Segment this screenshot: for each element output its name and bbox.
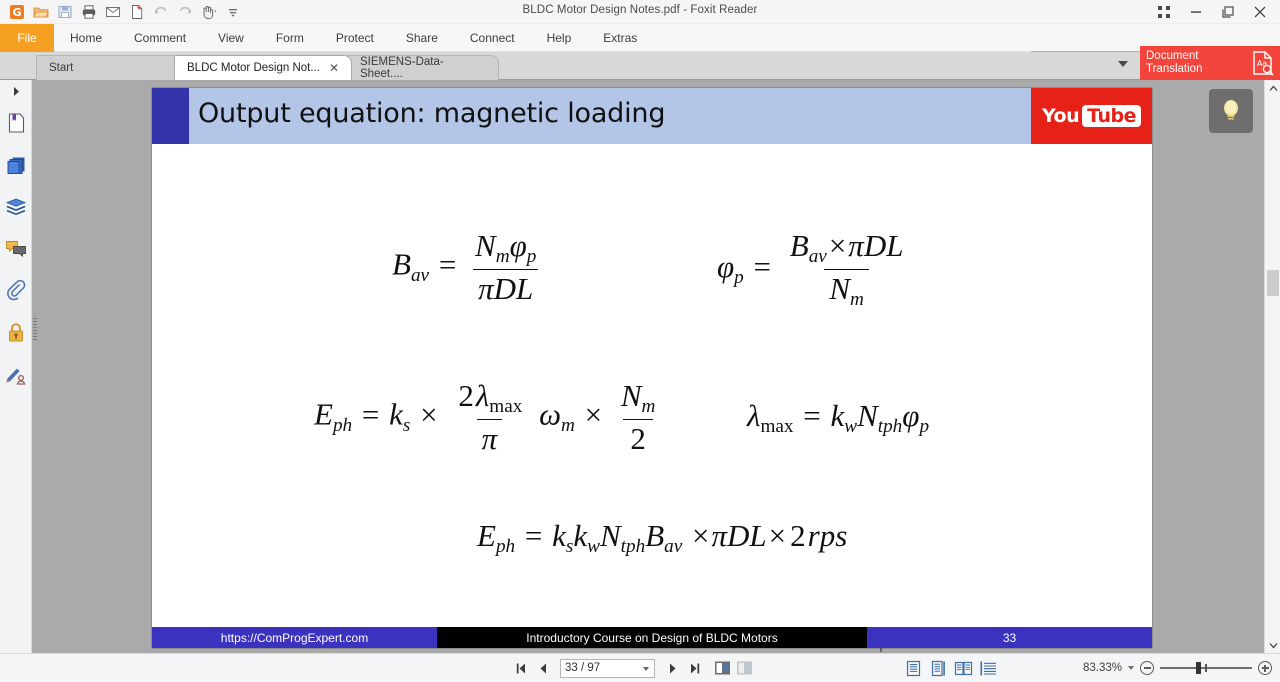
document-translation-line2: Translation — [1146, 63, 1246, 76]
slide-footer-course: Introductory Course on Design of BLDC Mo… — [437, 627, 867, 648]
tab-form[interactable]: Form — [260, 24, 320, 52]
doc-tab-siemens-datasheet[interactable]: SIEMENS-Data-Sheet.... — [347, 55, 499, 80]
youtube-logo-you: You — [1042, 105, 1079, 127]
document-tab-strip: Start BLDC Motor Design Not... ✕ SIEMENS… — [0, 52, 1280, 80]
tab-comment[interactable]: Comment — [118, 24, 202, 52]
tab-connect[interactable]: Connect — [454, 24, 531, 52]
tab-list-dropdown-icon[interactable] — [1118, 61, 1128, 67]
youtube-logo-tube: Tube — [1082, 105, 1141, 127]
single-page-view-icon[interactable] — [904, 659, 923, 678]
page-dropdown-caret-icon[interactable] — [643, 667, 649, 671]
first-page-icon[interactable] — [512, 659, 529, 677]
bookmarks-icon[interactable] — [0, 102, 32, 144]
tab-share[interactable]: Share — [390, 24, 454, 52]
svg-text:Aa: Aa — [1257, 59, 1267, 68]
zoom-slider-tick — [1205, 664, 1207, 672]
facing-page-view-icon[interactable] — [954, 659, 973, 678]
doc-tab-start[interactable]: Start — [36, 55, 181, 80]
equation-eph-lambda: Eph = ks × 2λmax π ωm × Nm 2 — [314, 378, 664, 457]
zoom-slider[interactable] — [1160, 661, 1252, 675]
panel-splitter-handle[interactable] — [33, 318, 37, 346]
youtube-logo: YouTube — [1031, 88, 1152, 144]
continuous-scroll-view-icon[interactable] — [929, 659, 948, 678]
document-translation-button[interactable]: Document Translation Aa — [1140, 46, 1280, 80]
doc-tab-bldc-notes-label: BLDC Motor Design Not... — [187, 62, 320, 74]
window-controls — [1148, 0, 1276, 24]
window-title: BLDC Motor Design Notes.pdf - Foxit Read… — [0, 4, 1280, 16]
translate-document-icon: Aa — [1246, 50, 1280, 76]
view-mode-group — [904, 659, 998, 678]
last-page-icon[interactable] — [686, 659, 703, 677]
zoom-slider-knob[interactable] — [1196, 662, 1201, 674]
maximize-icon[interactable] — [1212, 0, 1244, 24]
restore-all-icon[interactable] — [1148, 0, 1180, 24]
tab-help[interactable]: Help — [531, 24, 588, 52]
fit-page-icon[interactable] — [714, 659, 731, 677]
navigation-rail — [0, 80, 32, 682]
scrollbar-thumb[interactable] — [1267, 270, 1279, 296]
zoom-in-icon[interactable] — [1258, 661, 1272, 675]
tab-extras[interactable]: Extras — [587, 24, 653, 52]
fit-width-icon — [736, 659, 753, 677]
next-page-icon[interactable] — [664, 659, 681, 677]
page-number-input[interactable]: 33 / 97 — [560, 659, 655, 678]
doc-tab-bldc-notes[interactable]: BLDC Motor Design Not... ✕ — [174, 55, 352, 80]
document-translation-line1: Document — [1146, 50, 1246, 63]
ribbon-tabs: File Home Comment View Form Protect Shar… — [0, 24, 1280, 52]
document-viewport[interactable]: Output equation: magnetic loading YouTub… — [32, 80, 1264, 653]
security-icon[interactable] — [0, 312, 32, 354]
zoom-out-icon[interactable] — [1140, 661, 1154, 675]
expand-panel-icon[interactable] — [0, 80, 32, 102]
slide-accent-bar — [152, 88, 189, 144]
ribbon-tab-bar: File Home Comment View Form Protect Shar… — [0, 24, 1280, 52]
title-bar: G — [0, 0, 1280, 24]
equation-phip: φp = Bav×πDL Nm — [717, 228, 912, 311]
equation-bav: Bav = Nmφp πDL — [392, 228, 545, 307]
previous-page-icon[interactable] — [534, 659, 551, 677]
lightbulb-icon[interactable] — [1209, 89, 1253, 133]
slide-header: Output equation: magnetic loading YouTub… — [152, 88, 1152, 144]
document-translation-label: Document Translation — [1140, 50, 1246, 76]
doc-tab-start-label: Start — [49, 62, 73, 74]
vertical-scrollbar[interactable] — [1264, 80, 1280, 653]
pdf-page: Output equation: magnetic loading YouTub… — [152, 88, 1152, 648]
zoom-level-value[interactable]: 83.33% — [1078, 662, 1122, 674]
layers-icon[interactable] — [0, 186, 32, 228]
minimize-icon[interactable] — [1180, 0, 1212, 24]
mouse-cursor-icon — [873, 646, 889, 653]
slide-footer-url: https://ComProgExpert.com — [152, 627, 437, 648]
tab-file[interactable]: File — [0, 24, 54, 52]
tab-protect[interactable]: Protect — [320, 24, 390, 52]
tab-view[interactable]: View — [202, 24, 260, 52]
zoom-dropdown-caret-icon[interactable] — [1128, 666, 1134, 670]
slide-footer: https://ComProgExpert.com Introductory C… — [152, 627, 1152, 648]
equation-lambda-max: λmax = kwNtphφp — [747, 398, 929, 438]
equation-eph-final: Eph = kskwNtphBav ×πDL×2rps — [477, 518, 847, 558]
doc-tab-siemens-label: SIEMENS-Data-Sheet.... — [360, 56, 486, 80]
page-navigation-group: 33 / 97 — [512, 659, 753, 678]
doc-tab-close-icon[interactable]: ✕ — [329, 62, 339, 74]
scroll-down-icon[interactable] — [1265, 637, 1280, 653]
zoom-controls: 83.33% — [1078, 661, 1272, 675]
close-icon[interactable] — [1244, 0, 1276, 24]
digital-signatures-icon[interactable] — [0, 354, 32, 396]
status-bar: 33 / 97 — [0, 653, 1280, 682]
tab-home[interactable]: Home — [54, 24, 118, 52]
page-thumbnails-icon[interactable] — [0, 144, 32, 186]
attachments-icon[interactable] — [0, 270, 32, 312]
slide-footer-page-number: 33 — [867, 627, 1152, 648]
scroll-up-icon[interactable] — [1265, 80, 1280, 96]
foxit-reader-window: G — [0, 0, 1280, 682]
slide-title: Output equation: magnetic loading — [198, 98, 665, 129]
continuous-facing-view-icon[interactable] — [979, 659, 998, 678]
comments-icon[interactable] — [0, 228, 32, 270]
page-number-value: 33 / 97 — [565, 662, 600, 674]
